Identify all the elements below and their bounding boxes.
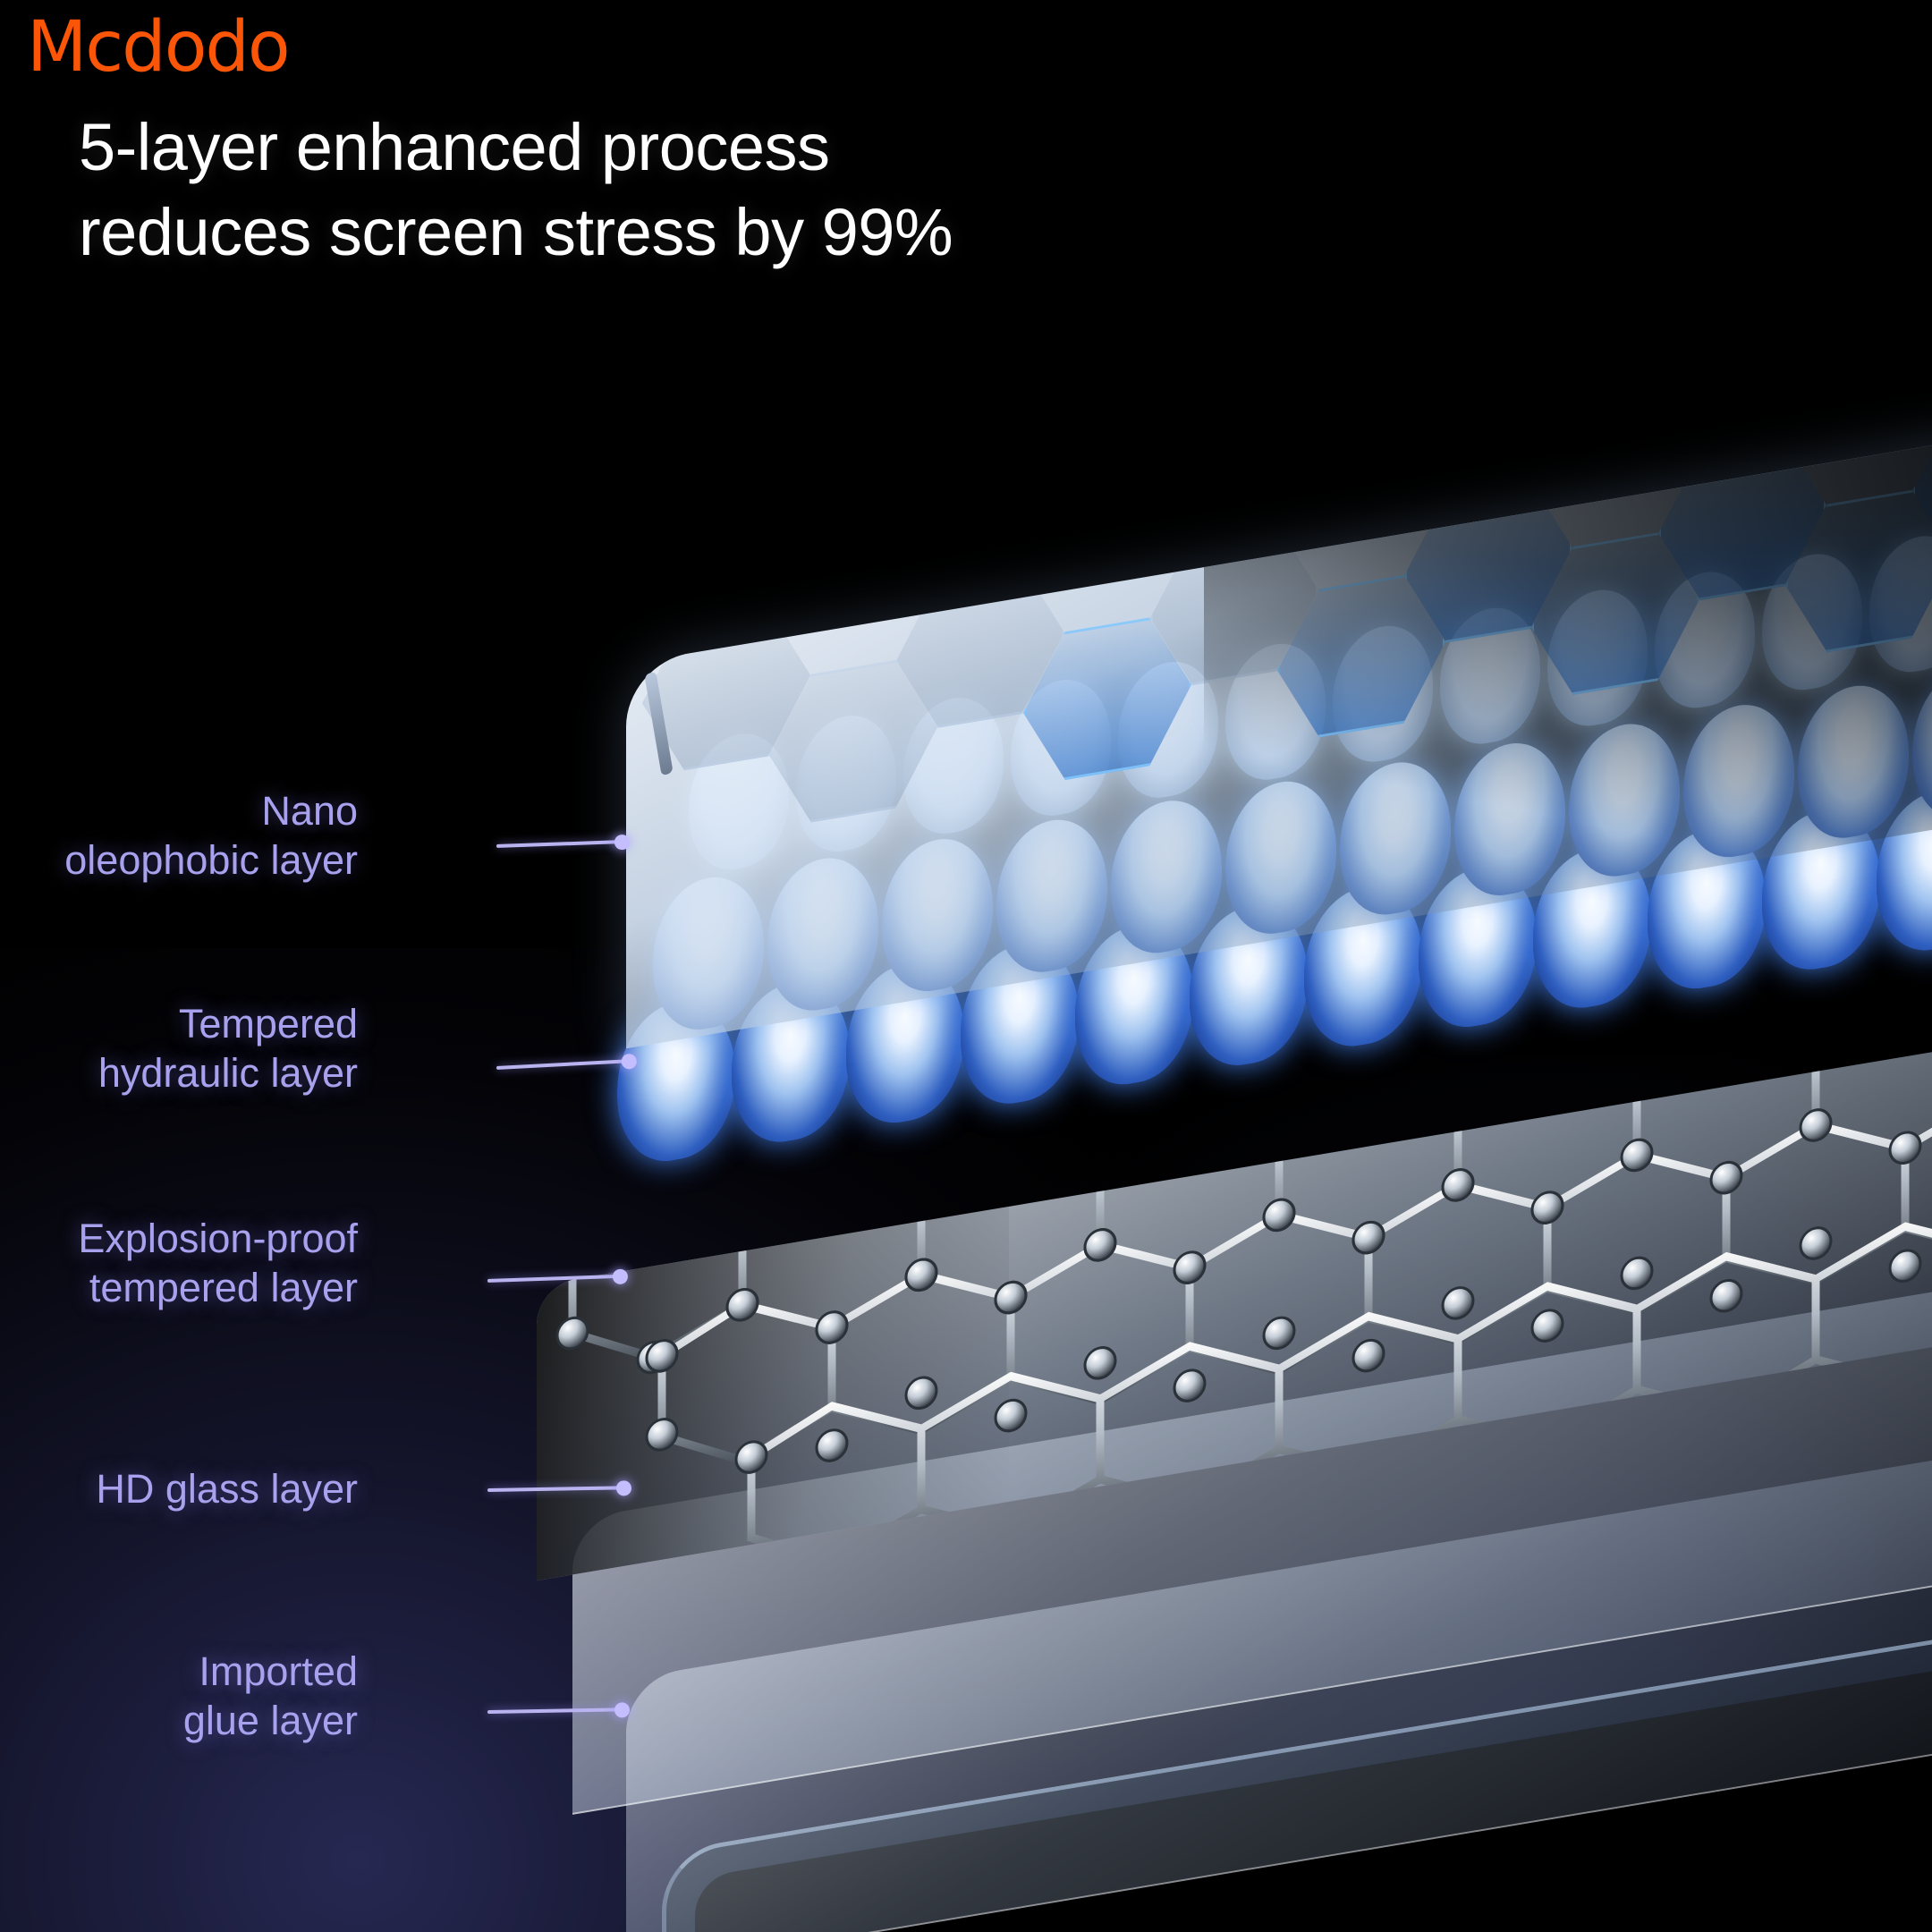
label-hd-line-1: HD glass layer bbox=[96, 1465, 358, 1514]
label-explosion-line-2: tempered layer bbox=[78, 1264, 358, 1313]
label-nano-oleophobic: Nano oleophobic layer bbox=[64, 787, 358, 885]
label-explosion-proof: Explosion-proof tempered layer bbox=[78, 1215, 358, 1313]
label-hd-glass: HD glass layer bbox=[96, 1465, 358, 1514]
label-explosion-line-1: Explosion-proof bbox=[78, 1215, 358, 1264]
background-top-shade bbox=[0, 0, 1932, 680]
label-hydraulic-line-1: Tempered bbox=[98, 1000, 358, 1049]
brand-logo: Mcdodo bbox=[27, 13, 289, 82]
label-glue-line-1: Imported bbox=[183, 1648, 358, 1697]
label-imported-glue: Imported glue layer bbox=[183, 1648, 358, 1746]
page-title: 5-layer enhanced process reduces screen … bbox=[79, 106, 953, 275]
label-nano-line-1: Nano bbox=[64, 787, 358, 836]
label-nano-line-2: oleophobic layer bbox=[64, 836, 358, 885]
label-hydraulic-line-2: hydraulic layer bbox=[98, 1049, 358, 1098]
infographic-canvas: Mcdodo 5-layer enhanced process reduces … bbox=[0, 0, 1932, 1932]
brand-name: Mcdodo bbox=[27, 7, 289, 88]
background-glow-right bbox=[787, 1055, 1932, 1932]
label-glue-line-2: glue layer bbox=[183, 1697, 358, 1746]
headline-line-2: reduces screen stress by 99% bbox=[79, 191, 953, 275]
headline-line-1: 5-layer enhanced process bbox=[79, 106, 953, 191]
label-tempered-hydraulic: Tempered hydraulic layer bbox=[98, 1000, 358, 1098]
